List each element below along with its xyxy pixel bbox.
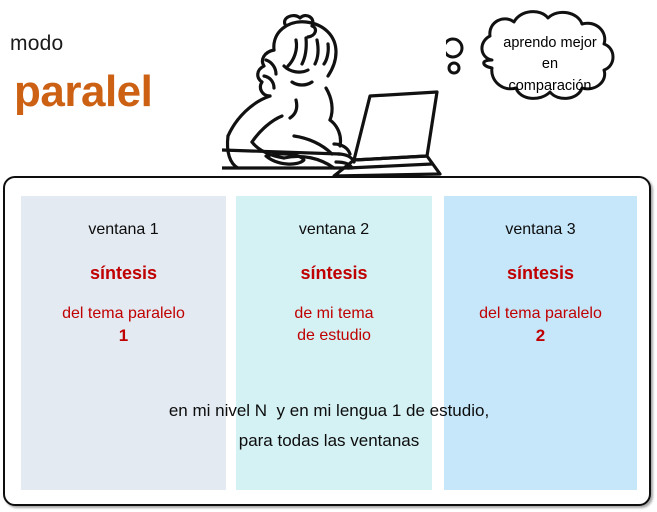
window-1-line-2: 1	[21, 325, 226, 348]
window-3-heading: síntesis	[444, 264, 637, 282]
window-column-1[interactable]: ventana 1 síntesis del tema paralelo 1	[21, 196, 226, 490]
window-1-heading: síntesis	[21, 264, 226, 282]
window-2-line-1: de mi tema	[236, 303, 432, 325]
window-1-line-1: del tema paralelo	[21, 303, 226, 325]
person-studying-laptop-icon	[222, 4, 442, 176]
parallel-mode-panel: ventana 1 síntesis del tema paralelo 1 v…	[3, 176, 651, 506]
window-2-line-2: de estudio	[236, 325, 432, 347]
bubble-text-line-2: en	[466, 54, 634, 75]
thought-bubble-text: aprendo mejor en comparación	[466, 33, 634, 97]
window-column-2[interactable]: ventana 2 síntesis de mi tema de estudio	[236, 196, 432, 490]
window-3-line-2: 2	[444, 325, 637, 348]
mode-label: modo	[10, 33, 63, 54]
mode-value: paralel	[14, 70, 152, 114]
window-2-heading: síntesis	[236, 264, 432, 282]
window-3-title: ventana 3	[444, 222, 637, 238]
window-column-3[interactable]: ventana 3 síntesis del tema paralelo 2	[444, 196, 637, 490]
bubble-text-line-3: comparación	[466, 76, 634, 97]
window-3-line-1: del tema paralelo	[444, 303, 637, 325]
window-2-title: ventana 2	[236, 222, 432, 238]
window-1-title: ventana 1	[21, 222, 226, 238]
bubble-text-line-1: aprendo mejor	[466, 33, 634, 54]
